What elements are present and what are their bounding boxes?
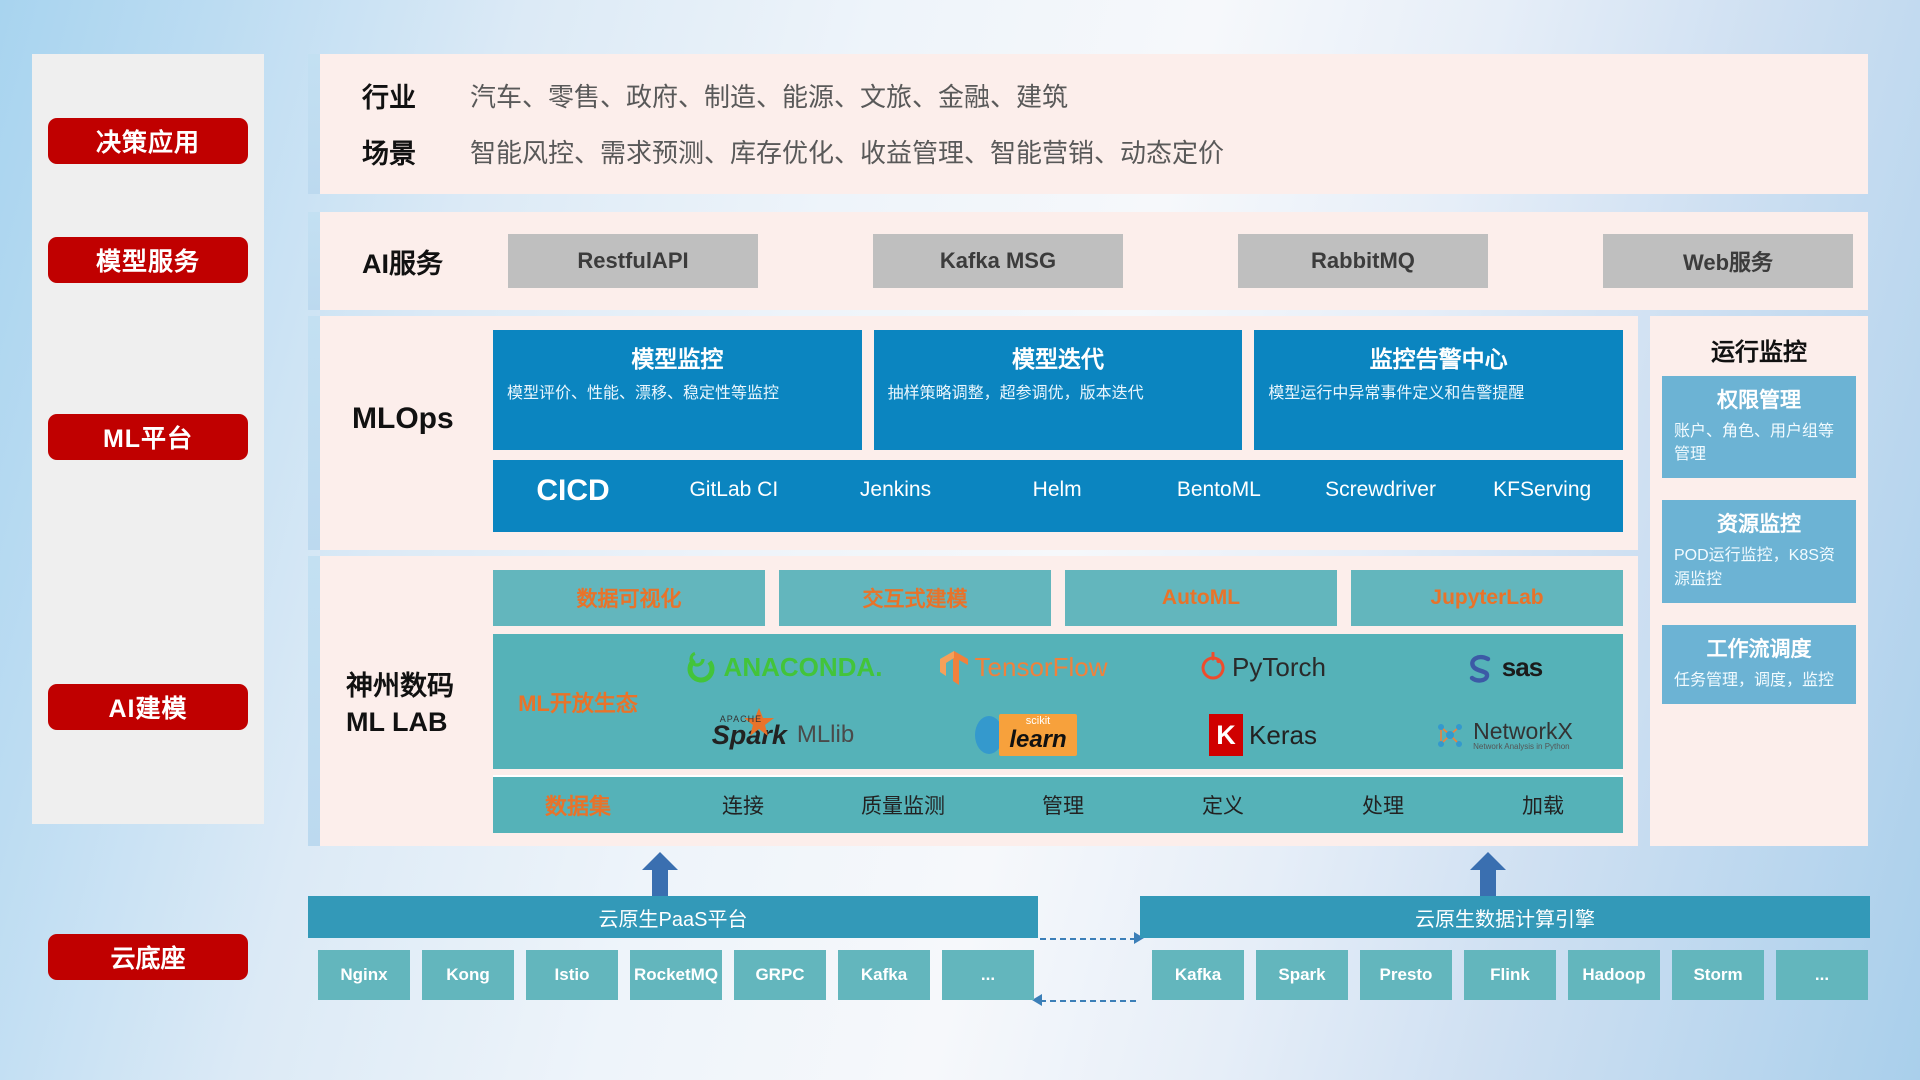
industry-label: 行业 xyxy=(320,76,470,115)
card-title: 资源监控 xyxy=(1674,508,1844,538)
tensorflow-wordmark: TensorFlow xyxy=(975,652,1108,683)
service-chip-label: Kafka MSG xyxy=(940,248,1056,274)
monitoring-title: 运行监控 xyxy=(1650,332,1868,367)
card-desc: 模型评价、性能、漂移、稳定性等监控 xyxy=(507,382,848,405)
paas-platform-bar[interactable]: 云原生PaaS平台 xyxy=(308,896,1038,938)
card-title: 模型监控 xyxy=(507,340,848,374)
paas-chip-row: Nginx Kong Istio RocketMQ GRPC Kafka ... xyxy=(318,950,1034,1000)
card-desc: 模型运行中异常事件定义和告警提醒 xyxy=(1268,382,1609,405)
lab-tool-list: 数据可视化 交互式建模 AutoML JupyterLab xyxy=(493,570,1623,626)
arrow-up-engine-icon xyxy=(1468,852,1508,896)
lab-tool-jupyterlab[interactable]: JupyterLab xyxy=(1351,570,1623,626)
engine-chip-row: Kafka Spark Presto Flink Hadoop Storm ..… xyxy=(1152,950,1868,1000)
scikit-orange-block: scikit learn xyxy=(999,714,1076,756)
mlops-card-model-monitoring[interactable]: 模型监控 模型评价、性能、漂移、稳定性等监控 xyxy=(493,330,862,450)
engine-chip-kafka[interactable]: Kafka xyxy=(1152,950,1244,1000)
ml-lab-label-line1: 神州数码 xyxy=(346,668,454,704)
dashed-connector-top xyxy=(1040,938,1136,940)
dashed-connector-bottom xyxy=(1040,1000,1136,1002)
cicd-title: CICD xyxy=(493,460,653,508)
networkx-logo: NetworkX Network Analysis in Python xyxy=(1433,718,1573,752)
layer-rail: 决策应用 模型服务 ML平台 AI建模 xyxy=(32,54,264,824)
service-chip-restfulapi[interactable]: RestfulAPI xyxy=(508,234,758,288)
sas-icon xyxy=(1464,652,1496,684)
spark-apache-label: APACHE xyxy=(720,714,762,724)
scenario-label: 场景 xyxy=(320,132,470,171)
layer-chip-cloud-foundation[interactable]: 云底座 xyxy=(48,934,248,980)
keras-logo: K Keras xyxy=(1209,714,1317,756)
ai-service-label: AI服务 xyxy=(362,242,443,281)
decision-application-panel: 行业 汽车、零售、政府、制造、能源、文旅、金融、建筑 场景 智能风控、需求预测、… xyxy=(308,54,1868,194)
service-chip-web-service[interactable]: Web服务 xyxy=(1603,234,1853,288)
pytorch-logo: PyTorch xyxy=(1200,652,1326,684)
sas-logo: sas xyxy=(1464,652,1542,684)
ml-lab-panel: 神州数码 ML LAB 数据可视化 交互式建模 AutoML JupyterLa… xyxy=(308,556,1638,846)
monitoring-card-workflow[interactable]: 工作流调度 任务管理，调度，监控 xyxy=(1662,625,1856,704)
engine-chip-presto[interactable]: Presto xyxy=(1360,950,1452,1000)
cicd-item-screwdriver[interactable]: Screwdriver xyxy=(1300,460,1462,503)
layer-chip-label: 决策应用 xyxy=(96,123,200,159)
keras-wordmark: Keras xyxy=(1249,720,1317,751)
mllib-wordmark: MLlib xyxy=(797,721,854,749)
data-compute-engine-bar[interactable]: 云原生数据计算引擎 xyxy=(1140,896,1870,938)
dataset-row: 数据集 连接 质量监测 管理 定义 处理 加载 xyxy=(493,775,1623,833)
networkx-wordmark: NetworkX xyxy=(1473,719,1573,743)
service-chip-label: RestfulAPI xyxy=(577,248,688,274)
dataset-item-connect[interactable]: 连接 xyxy=(663,790,823,820)
layer-chip-model-service[interactable]: 模型服务 xyxy=(48,237,248,283)
paas-chip-rocketmq[interactable]: RocketMQ xyxy=(630,950,722,1000)
operation-monitoring-panel: 运行监控 权限管理 账户、角色、用户组等管理 资源监控 POD运行监控，K8S资… xyxy=(1650,316,1868,846)
card-title: 权限管理 xyxy=(1674,384,1844,414)
paas-chip-kong[interactable]: Kong xyxy=(422,950,514,1000)
ml-lab-label: 神州数码 ML LAB xyxy=(346,668,454,741)
panel-accent-bar xyxy=(308,212,320,310)
pytorch-icon xyxy=(1200,652,1226,684)
engine-bar-label: 云原生数据计算引擎 xyxy=(1415,903,1595,932)
dataset-item-manage[interactable]: 管理 xyxy=(983,790,1143,820)
industry-row: 行业 汽车、零售、政府、制造、能源、文旅、金融、建筑 xyxy=(320,76,1068,115)
cicd-item-bentoml[interactable]: BentoML xyxy=(1138,460,1300,503)
pytorch-wordmark: PyTorch xyxy=(1232,652,1326,683)
dataset-item-quality-monitor[interactable]: 质量监测 xyxy=(823,790,983,820)
layer-chip-label: 云底座 xyxy=(110,939,185,975)
cicd-item-kfserving[interactable]: KFServing xyxy=(1461,460,1623,503)
keras-icon: K xyxy=(1209,714,1243,756)
service-chip-label: RabbitMQ xyxy=(1311,248,1415,274)
card-title: 模型迭代 xyxy=(888,340,1229,374)
mlops-label: MLOps xyxy=(352,402,454,436)
card-title: 工作流调度 xyxy=(1674,633,1844,663)
dataset-item-load[interactable]: 加载 xyxy=(1463,790,1623,820)
lab-tool-data-visualization[interactable]: 数据可视化 xyxy=(493,570,765,626)
cicd-bar: CICD GitLab CI Jenkins Helm BentoML Scre… xyxy=(493,460,1623,532)
ml-lab-label-line2: ML LAB xyxy=(346,704,454,740)
sas-wordmark: sas xyxy=(1502,652,1542,683)
paas-chip-nginx[interactable]: Nginx xyxy=(318,950,410,1000)
engine-chip-storm[interactable]: Storm xyxy=(1672,950,1764,1000)
ml-open-ecosystem: ML开放生态 ANACONDA. TensorFlow xyxy=(493,634,1623,769)
engine-chip-spark[interactable]: Spark xyxy=(1256,950,1348,1000)
paas-chip-istio[interactable]: Istio xyxy=(526,950,618,1000)
ai-service-chip-list: RestfulAPI Kafka MSG RabbitMQ Web服务 xyxy=(508,234,1853,288)
scikit-learn-word: learn xyxy=(1009,727,1066,753)
paas-chip-more[interactable]: ... xyxy=(942,950,1034,1000)
service-chip-label: Web服务 xyxy=(1683,245,1773,277)
monitoring-card-permission[interactable]: 权限管理 账户、角色、用户组等管理 xyxy=(1662,376,1856,478)
anaconda-logo: ANACONDA. xyxy=(684,651,883,685)
networkx-icon xyxy=(1433,718,1467,752)
networkx-tagline: Network Analysis in Python xyxy=(1473,743,1573,751)
card-desc: POD运行监控，K8S资源监控 xyxy=(1674,544,1844,590)
layer-chip-decision-app[interactable]: 决策应用 xyxy=(48,118,248,164)
layer-chip-label: ML平台 xyxy=(103,419,193,455)
ecosystem-logo-grid: ANACONDA. TensorFlow PyTorch xyxy=(663,634,1623,769)
spark-mllib-logo: APACHE Spark MLlib xyxy=(712,720,854,751)
dataset-item-define[interactable]: 定义 xyxy=(1143,790,1303,820)
engine-chip-hadoop[interactable]: Hadoop xyxy=(1568,950,1660,1000)
scenario-value: 智能风控、需求预测、库存优化、收益管理、智能营销、动态定价 xyxy=(470,133,1224,170)
monitoring-card-resource[interactable]: 资源监控 POD运行监控，K8S资源监控 xyxy=(1662,500,1856,602)
mlops-card-alert-center[interactable]: 监控告警中心 模型运行中异常事件定义和告警提醒 xyxy=(1254,330,1623,450)
tensorflow-logo: TensorFlow xyxy=(939,650,1108,686)
engine-chip-flink[interactable]: Flink xyxy=(1464,950,1556,1000)
mlops-card-model-iteration[interactable]: 模型迭代 抽样策略调整，超参调优，版本迭代 xyxy=(874,330,1243,450)
anaconda-wordmark: ANACONDA. xyxy=(724,652,883,683)
layer-chip-ai-modeling[interactable]: AI建模 xyxy=(48,684,248,730)
engine-chip-more[interactable]: ... xyxy=(1776,950,1868,1000)
scenario-row: 场景 智能风控、需求预测、库存优化、收益管理、智能营销、动态定价 xyxy=(320,132,1224,171)
cicd-item-helm[interactable]: Helm xyxy=(976,460,1138,503)
layer-chip-label: 模型服务 xyxy=(96,242,200,278)
cicd-item-jenkins[interactable]: Jenkins xyxy=(815,460,977,503)
layer-chip-label: AI建模 xyxy=(108,689,187,725)
ai-service-panel: AI服务 RestfulAPI Kafka MSG RabbitMQ Web服务 xyxy=(308,212,1868,310)
card-desc: 账户、角色、用户组等管理 xyxy=(1674,420,1844,466)
card-desc: 抽样策略调整，超参调优，版本迭代 xyxy=(888,382,1229,405)
tensorflow-icon xyxy=(939,650,969,686)
service-chip-kafka-msg[interactable]: Kafka MSG xyxy=(873,234,1123,288)
mlops-panel: MLOps 模型监控 模型评价、性能、漂移、稳定性等监控 模型迭代 抽样策略调整… xyxy=(308,316,1638,550)
scikit-learn-logo: scikit learn xyxy=(969,714,1076,756)
industry-value: 汽车、零售、政府、制造、能源、文旅、金融、建筑 xyxy=(470,77,1068,114)
mlops-card-list: 模型监控 模型评价、性能、漂移、稳定性等监控 模型迭代 抽样策略调整，超参调优，… xyxy=(493,330,1623,450)
paas-bar-label: 云原生PaaS平台 xyxy=(599,903,748,932)
dataset-title: 数据集 xyxy=(493,789,663,821)
lab-tool-interactive-modeling[interactable]: 交互式建模 xyxy=(779,570,1051,626)
layer-chip-ml-platform[interactable]: ML平台 xyxy=(48,414,248,460)
panel-accent-bar xyxy=(308,316,320,550)
anaconda-icon xyxy=(684,651,718,685)
arrow-up-paas-icon xyxy=(640,852,680,896)
service-chip-rabbitmq[interactable]: RabbitMQ xyxy=(1238,234,1488,288)
dataset-item-process[interactable]: 处理 xyxy=(1303,790,1463,820)
panel-accent-bar xyxy=(308,556,320,846)
lab-tool-automl[interactable]: AutoML xyxy=(1065,570,1337,626)
card-title: 监控告警中心 xyxy=(1268,340,1609,374)
cicd-item-gitlab-ci[interactable]: GitLab CI xyxy=(653,460,815,503)
paas-chip-grpc[interactable]: GRPC xyxy=(734,950,826,1000)
panel-accent-bar xyxy=(308,54,320,194)
ecosystem-title: ML开放生态 xyxy=(493,686,663,718)
monitoring-card-list: 权限管理 账户、角色、用户组等管理 资源监控 POD运行监控，K8S资源监控 工… xyxy=(1662,376,1856,726)
paas-chip-kafka[interactable]: Kafka xyxy=(838,950,930,1000)
card-desc: 任务管理，调度，监控 xyxy=(1674,669,1844,692)
